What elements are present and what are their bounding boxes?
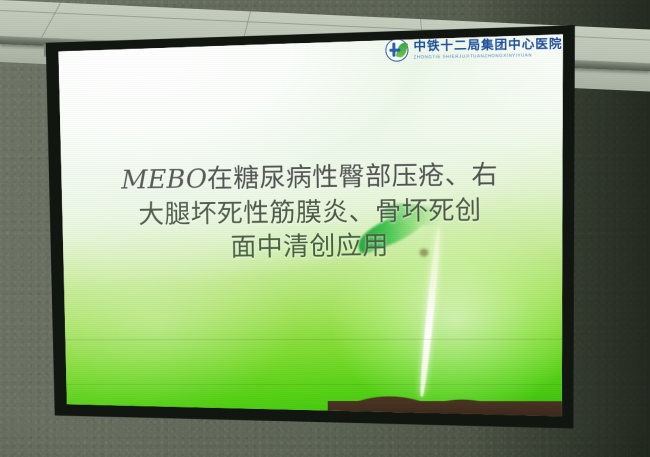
hospital-name-pinyin: ZHONGTIE SHIERJUJITUANZHONGXINYIYUAN bbox=[414, 52, 563, 59]
title-line-3: 面中清创应用 bbox=[69, 227, 553, 267]
title-line-2: 大腿坏死性筋膜炎、骨坏死创 bbox=[69, 193, 553, 234]
slide-title: MEBO在糖尿病性臀部压疮、右 大腿坏死性筋膜炎、骨坏死创 面中清创应用 bbox=[68, 158, 553, 268]
title-mebo-label: MEBO bbox=[121, 165, 207, 196]
projector-band-2 bbox=[43, 383, 581, 384]
logo-text-block: 中铁十二局集团中心医院 ZHONGTIE SHIERJUJITUANZHONGX… bbox=[414, 37, 563, 59]
title-line-1-cn: 在糖尿病性臀部压疮、右 bbox=[207, 161, 498, 195]
slide-surface: 中铁十二局集团中心医院 ZHONGTIE SHIERJUJITUANZHONGX… bbox=[41, 25, 581, 432]
photo-scene: 中铁十二局集团中心医院 ZHONGTIE SHIERJUJITUANZHONGX… bbox=[0, 0, 650, 457]
hospital-name-cn: 中铁十二局集团中心医院 bbox=[414, 37, 563, 52]
projection-screen: 中铁十二局集团中心医院 ZHONGTIE SHIERJUJITUANZHONGX… bbox=[41, 25, 581, 432]
leaf-icon bbox=[396, 41, 408, 58]
medical-cross-icon bbox=[386, 38, 409, 61]
